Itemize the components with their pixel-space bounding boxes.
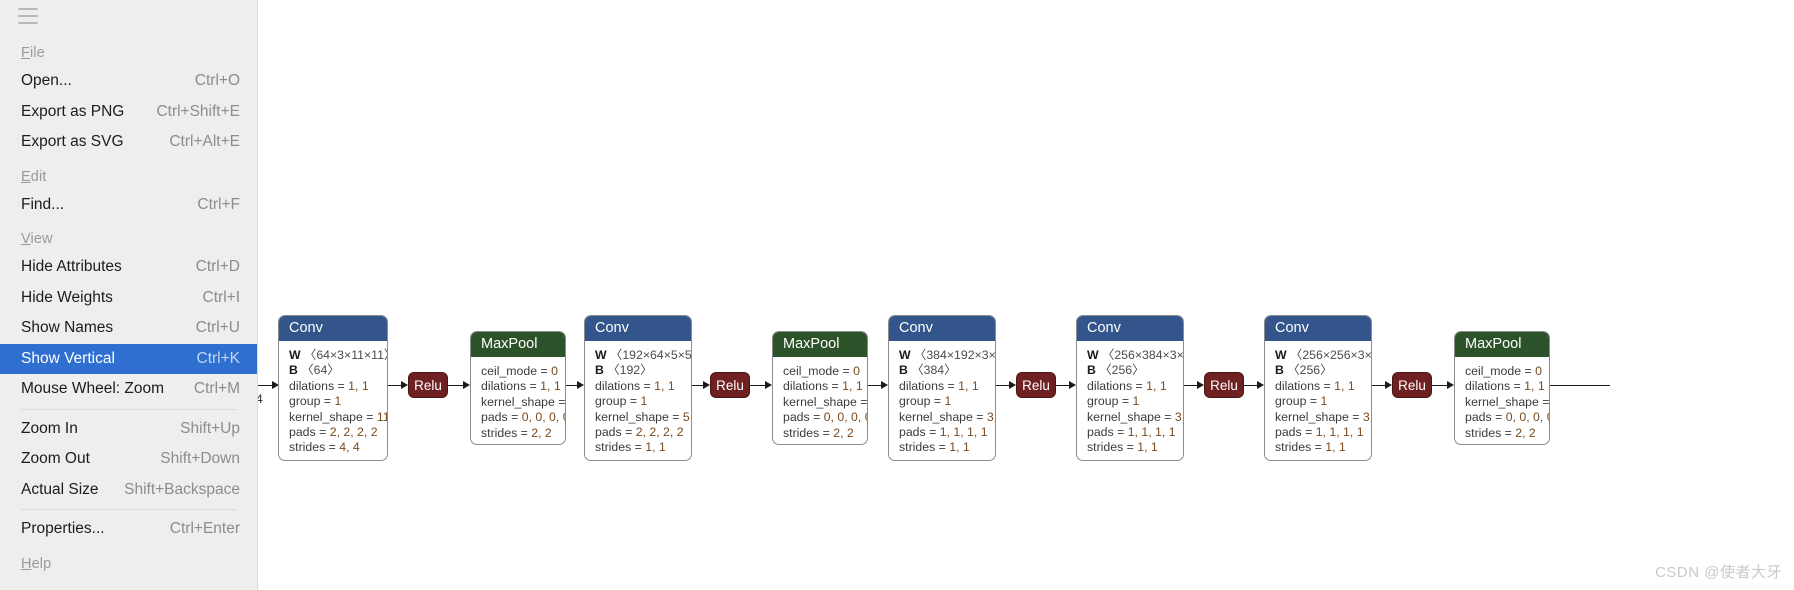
- attribute-key: W: [289, 348, 301, 362]
- edge-arrow: [1197, 381, 1204, 389]
- edge-output: [1550, 385, 1610, 386]
- attribute-key: dilations: [783, 379, 828, 393]
- menu-item-shortcut: Ctrl+I: [203, 289, 240, 307]
- attribute-shape: 〈192〉: [607, 363, 652, 377]
- menu-item-shortcut: Ctrl+Alt+E: [169, 133, 240, 151]
- attribute-key: B: [1087, 363, 1096, 377]
- attribute-value: 1, 1: [958, 379, 979, 393]
- attribute-shape: 〈384×192×3×3〉: [914, 348, 996, 362]
- menu-group-label-edit: Edit: [0, 158, 258, 190]
- attribute-key: group: [1275, 394, 1306, 408]
- graph-canvas[interactable]: 4×224ConvW 〈64×3×11×11〉B 〈64〉dilations =…: [258, 0, 1794, 590]
- node-attribute-row: kernel_shape = 3, 3: [783, 395, 857, 410]
- node-attribute-row: dilations = 1, 1: [1087, 379, 1173, 394]
- node-attribute-row: strides = 2, 2: [783, 426, 857, 441]
- menu-item-shortcut: Ctrl+D: [196, 258, 240, 276]
- node-attribute-row: pads = 0, 0, 0, 0: [481, 410, 555, 425]
- graph-node-conv[interactable]: ConvW 〈256×256×3×3〉B 〈256〉dilations = 1,…: [1264, 315, 1372, 461]
- attribute-value: 1, 1: [654, 379, 675, 393]
- attribute-value: 1, 1: [1146, 379, 1167, 393]
- node-attribute-row: dilations = 1, 1: [289, 379, 377, 394]
- attribute-key: kernel_shape: [1465, 395, 1539, 409]
- attribute-key: kernel_shape: [899, 410, 973, 424]
- attribute-value: 1, 1: [842, 379, 863, 393]
- attribute-key: ceil_mode: [783, 364, 839, 378]
- node-attribute-row: ceil_mode = 0: [481, 364, 555, 379]
- menu-item-label: Actual Size: [21, 481, 99, 499]
- hamburger-bar: [18, 8, 38, 10]
- attribute-value: 3, 3: [1363, 410, 1372, 424]
- graph-node-relu[interactable]: Relu: [1392, 372, 1432, 398]
- node-attribute-row: dilations = 1, 1: [899, 379, 985, 394]
- graph-node-relu[interactable]: Relu: [710, 372, 750, 398]
- node-attributes: W 〈384×192×3×3〉B 〈384〉dilations = 1, 1gr…: [889, 341, 995, 461]
- node-attribute-row: pads = 1, 1, 1, 1: [1275, 425, 1361, 440]
- edge-arrow: [577, 381, 584, 389]
- attribute-shape: 〈256×256×3×3〉: [1290, 348, 1372, 362]
- menu-item-hide-weights[interactable]: Hide WeightsCtrl+I: [0, 283, 258, 314]
- edge-connector: [1056, 385, 1070, 386]
- attribute-key: strides: [1465, 426, 1501, 440]
- model-graph: 4×224ConvW 〈64×3×11×11〉B 〈64〉dilations =…: [258, 0, 1794, 590]
- attribute-value: 0: [1535, 364, 1542, 378]
- graph-node-maxpool[interactable]: MaxPoolceil_mode = 0dilations = 1, 1kern…: [470, 331, 566, 445]
- attribute-value: 1, 1, 1, 1: [1316, 425, 1364, 439]
- attribute-shape: 〈64〉: [301, 363, 339, 377]
- attribute-key: strides: [481, 426, 517, 440]
- attribute-key: dilations: [1465, 379, 1510, 393]
- attribute-value: 1, 1: [949, 440, 970, 454]
- menu-item-actual-size[interactable]: Actual SizeShift+Backspace: [0, 475, 258, 506]
- node-attribute-row: kernel_shape = 11, 11: [289, 410, 377, 425]
- attribute-key: strides: [783, 426, 819, 440]
- node-title: MaxPool: [773, 332, 867, 357]
- edge-connector: [996, 385, 1010, 386]
- hamburger-bar: [18, 15, 38, 17]
- edge-connector: [868, 385, 882, 386]
- node-attribute-row: dilations = 1, 1: [481, 379, 555, 394]
- node-attribute-row: kernel_shape = 3, 3: [1275, 410, 1361, 425]
- menu-item-label: Export as PNG: [21, 103, 124, 121]
- attribute-key: pads: [899, 425, 926, 439]
- attribute-key: kernel_shape: [595, 410, 669, 424]
- edge-arrow: [1069, 381, 1076, 389]
- attribute-shape: 〈256×384×3×3〉: [1102, 348, 1184, 362]
- menu-item-label: Find...: [21, 196, 64, 214]
- node-attribute-row: pads = 2, 2, 2, 2: [289, 425, 377, 440]
- node-attribute-row: group = 1: [289, 394, 377, 409]
- attribute-key: dilations: [1087, 379, 1132, 393]
- node-attribute-row: strides = 1, 1: [1087, 440, 1173, 455]
- menu-item-zoom-out[interactable]: Zoom OutShift+Down: [0, 444, 258, 475]
- node-attribute-row: W 〈256×256×3×3〉: [1275, 348, 1361, 363]
- menu-item-label: Mouse Wheel: Zoom: [21, 380, 164, 398]
- attribute-key: strides: [289, 440, 325, 454]
- node-attributes: ceil_mode = 0dilations = 1, 1kernel_shap…: [471, 357, 565, 445]
- node-attribute-row: B 〈384〉: [899, 363, 985, 378]
- edge-arrow: [1385, 381, 1392, 389]
- attribute-key: dilations: [289, 379, 334, 393]
- menu-item-shortcut: Ctrl+O: [195, 72, 240, 90]
- node-attributes: W 〈64×3×11×11〉B 〈64〉dilations = 1, 1grou…: [279, 341, 387, 461]
- node-title: Relu: [1210, 378, 1238, 393]
- attribute-value: 0, 0, 0, 0: [522, 410, 566, 424]
- attribute-value: 11, 11: [377, 410, 388, 424]
- watermark: CSDN @使者大牙: [1655, 561, 1782, 582]
- attribute-key: kernel_shape: [289, 410, 363, 424]
- menu-item-shortcut: Shift+Down: [160, 450, 240, 468]
- menu-item-shortcut: Ctrl+Enter: [170, 520, 240, 538]
- node-attribute-row: pads = 1, 1, 1, 1: [899, 425, 985, 440]
- attribute-key: group: [595, 394, 626, 408]
- attribute-shape: 〈256〉: [1287, 363, 1332, 377]
- menu-list: FileOpen...Ctrl+OExport as PNGCtrl+Shift…: [0, 34, 258, 577]
- edge-arrow: [463, 381, 470, 389]
- attribute-value: 2, 2: [833, 426, 854, 440]
- node-title: Conv: [1265, 316, 1371, 341]
- attribute-value: 0, 0, 0, 0: [824, 410, 868, 424]
- attribute-key: kernel_shape: [481, 395, 555, 409]
- menu-item-shortcut: Ctrl+K: [197, 350, 241, 368]
- attribute-key: pads: [783, 410, 810, 424]
- edge-label-input-shape: 4×224: [258, 392, 263, 406]
- menu-item-hide-attributes[interactable]: Hide AttributesCtrl+D: [0, 252, 258, 283]
- node-attribute-row: strides = 4, 4: [289, 440, 377, 455]
- node-attribute-row: dilations = 1, 1: [783, 379, 857, 394]
- node-attributes: W 〈192×64×5×5〉B 〈192〉dilations = 1, 1gro…: [585, 341, 691, 461]
- node-attribute-row: B 〈256〉: [1087, 363, 1173, 378]
- menu-separator: [21, 509, 237, 510]
- menu-item-label: Properties...: [21, 520, 105, 538]
- attribute-shape: 〈192×64×5×5〉: [610, 348, 692, 362]
- node-attribute-row: kernel_shape = 5, 5: [595, 410, 681, 425]
- attribute-value: 3, 3: [1175, 410, 1184, 424]
- menu-group-label-help: Help: [0, 545, 258, 577]
- attribute-key: pads: [1275, 425, 1302, 439]
- menu-item-show-vertical[interactable]: Show VerticalCtrl+K: [0, 344, 258, 375]
- node-attribute-row: ceil_mode = 0: [783, 364, 857, 379]
- node-attribute-row: strides = 2, 2: [481, 426, 555, 441]
- attribute-value: 0: [853, 364, 860, 378]
- node-title: Conv: [889, 316, 995, 341]
- menu-separator: [21, 409, 237, 410]
- edge-arrow: [765, 381, 772, 389]
- menu-item-label: Show Vertical: [21, 350, 115, 368]
- attribute-value: 0, 0, 0, 0: [1506, 410, 1550, 424]
- main-menu-panel: FileOpen...Ctrl+OExport as PNGCtrl+Shift…: [0, 0, 258, 590]
- edge-connector: [750, 385, 766, 386]
- node-attribute-row: kernel_shape = 3, 3: [899, 410, 985, 425]
- node-title: Relu: [414, 378, 442, 393]
- graph-node-relu[interactable]: Relu: [1204, 372, 1244, 398]
- node-attribute-row: strides = 1, 1: [899, 440, 985, 455]
- edge-arrow: [703, 381, 710, 389]
- edge-connector: [1372, 385, 1386, 386]
- attribute-value: 1, 1: [645, 440, 666, 454]
- edge-arrow: [1009, 381, 1016, 389]
- node-attribute-row: W 〈256×384×3×3〉: [1087, 348, 1173, 363]
- attribute-key: ceil_mode: [481, 364, 537, 378]
- edge-arrow: [1447, 381, 1454, 389]
- attribute-key: W: [899, 348, 911, 362]
- graph-node-conv[interactable]: ConvW 〈192×64×5×5〉B 〈192〉dilations = 1, …: [584, 315, 692, 461]
- node-attribute-row: pads = 2, 2, 2, 2: [595, 425, 681, 440]
- edge-connector: [448, 385, 464, 386]
- attribute-value: 3, 3: [987, 410, 996, 424]
- menu-item-shortcut: Shift+Up: [180, 420, 240, 438]
- node-attribute-row: W 〈64×3×11×11〉: [289, 348, 377, 363]
- menu-item-label: Open...: [21, 72, 72, 90]
- node-attributes: ceil_mode = 0dilations = 1, 1kernel_shap…: [1455, 357, 1549, 445]
- graph-node-conv[interactable]: ConvW 〈256×384×3×3〉B 〈256〉dilations = 1,…: [1076, 315, 1184, 461]
- edge-input: [258, 385, 273, 386]
- attribute-key: group: [1087, 394, 1118, 408]
- menu-item-label: Hide Weights: [21, 289, 113, 307]
- node-title: Relu: [1398, 378, 1426, 393]
- node-attribute-row: B 〈64〉: [289, 363, 377, 378]
- node-attribute-row: dilations = 1, 1: [1465, 379, 1539, 394]
- attribute-value: 5, 5: [683, 410, 692, 424]
- node-attributes: ceil_mode = 0dilations = 1, 1kernel_shap…: [773, 357, 867, 445]
- attribute-key: group: [289, 394, 320, 408]
- attribute-key: ceil_mode: [1465, 364, 1521, 378]
- attribute-key: strides: [899, 440, 935, 454]
- node-attribute-row: W 〈384×192×3×3〉: [899, 348, 985, 363]
- attribute-key: W: [1087, 348, 1099, 362]
- menu-item-label: Show Names: [21, 319, 113, 337]
- attribute-key: B: [595, 363, 604, 377]
- menu-group-label-file: File: [0, 34, 258, 66]
- attribute-value: 2, 2: [531, 426, 552, 440]
- attribute-key: group: [899, 394, 930, 408]
- menu-item-export-as-svg[interactable]: Export as SVGCtrl+Alt+E: [0, 127, 258, 158]
- node-title: Relu: [1022, 378, 1050, 393]
- hamburger-icon[interactable]: [18, 8, 38, 24]
- attribute-key: B: [289, 363, 298, 377]
- app-root: FileOpen...Ctrl+OExport as PNGCtrl+Shift…: [0, 0, 1794, 590]
- attribute-value: 1: [640, 394, 647, 408]
- node-attribute-row: B 〈192〉: [595, 363, 681, 378]
- node-attribute-row: dilations = 1, 1: [1275, 379, 1361, 394]
- node-title: MaxPool: [471, 332, 565, 357]
- menu-item-open[interactable]: Open...Ctrl+O: [0, 66, 258, 97]
- menu-item-label: Zoom In: [21, 420, 78, 438]
- node-title: MaxPool: [1455, 332, 1549, 357]
- attribute-key: strides: [1087, 440, 1123, 454]
- graph-node-conv[interactable]: ConvW 〈384×192×3×3〉B 〈384〉dilations = 1,…: [888, 315, 996, 461]
- attribute-value: 1: [1132, 394, 1139, 408]
- graph-node-maxpool[interactable]: MaxPoolceil_mode = 0dilations = 1, 1kern…: [772, 331, 868, 445]
- attribute-shape: 〈64×3×11×11〉: [304, 348, 388, 362]
- node-title: Conv: [1077, 316, 1183, 341]
- attribute-value: 2, 2, 2, 2: [636, 425, 684, 439]
- attribute-key: dilations: [1275, 379, 1320, 393]
- node-attribute-row: strides = 1, 1: [595, 440, 681, 455]
- node-attribute-row: pads = 1, 1, 1, 1: [1087, 425, 1173, 440]
- node-attribute-row: kernel_shape = 3, 3: [481, 395, 555, 410]
- menu-item-shortcut: Shift+Backspace: [124, 481, 240, 499]
- graph-node-conv[interactable]: ConvW 〈64×3×11×11〉B 〈64〉dilations = 1, 1…: [278, 315, 388, 461]
- attribute-value: 1, 1: [1325, 440, 1346, 454]
- edge-connector: [1184, 385, 1198, 386]
- hamburger-bar: [18, 22, 38, 24]
- edge-connector: [1244, 385, 1258, 386]
- edge-arrow: [1257, 381, 1264, 389]
- attribute-key: dilations: [595, 379, 640, 393]
- graph-node-maxpool[interactable]: MaxPoolceil_mode = 0dilations = 1, 1kern…: [1454, 331, 1550, 445]
- menu-item-shortcut: Ctrl+M: [194, 380, 240, 398]
- attribute-value: 1: [944, 394, 951, 408]
- menu-item-label: Export as SVG: [21, 133, 124, 151]
- edge-arrow: [881, 381, 888, 389]
- menu-item-mouse-wheel-zoom[interactable]: Mouse Wheel: ZoomCtrl+M: [0, 374, 258, 405]
- menu-item-label: Zoom Out: [21, 450, 90, 468]
- menu-item-properties[interactable]: Properties...Ctrl+Enter: [0, 514, 258, 545]
- attribute-value: 1, 1: [1137, 440, 1158, 454]
- attribute-key: W: [595, 348, 607, 362]
- node-attribute-row: pads = 0, 0, 0, 0: [783, 410, 857, 425]
- node-attribute-row: group = 1: [1087, 394, 1173, 409]
- node-attribute-row: pads = 0, 0, 0, 0: [1465, 410, 1539, 425]
- attribute-key: pads: [1465, 410, 1492, 424]
- node-attribute-row: strides = 1, 1: [1275, 440, 1361, 455]
- edge-arrow: [401, 381, 408, 389]
- attribute-key: pads: [289, 425, 316, 439]
- menu-group-label-view: View: [0, 220, 258, 252]
- attribute-value: 2, 2, 2, 2: [330, 425, 378, 439]
- attribute-shape: 〈256〉: [1099, 363, 1144, 377]
- node-attribute-row: group = 1: [899, 394, 985, 409]
- menu-item-label: Hide Attributes: [21, 258, 122, 276]
- menu-item-export-as-png[interactable]: Export as PNGCtrl+Shift+E: [0, 97, 258, 128]
- menu-item-shortcut: Ctrl+Shift+E: [156, 103, 240, 121]
- node-attribute-row: B 〈256〉: [1275, 363, 1361, 378]
- attribute-value: 1, 1: [348, 379, 369, 393]
- attribute-shape: 〈384〉: [911, 363, 956, 377]
- attribute-value: 1, 1: [540, 379, 561, 393]
- attribute-key: pads: [595, 425, 622, 439]
- node-attribute-row: group = 1: [1275, 394, 1361, 409]
- node-attribute-row: strides = 2, 2: [1465, 426, 1539, 441]
- attribute-value: 1: [1320, 394, 1327, 408]
- attribute-value: 1, 1: [1524, 379, 1545, 393]
- attribute-value: 1, 1, 1, 1: [1128, 425, 1176, 439]
- node-attribute-row: kernel_shape = 3, 3: [1465, 395, 1539, 410]
- node-attribute-row: dilations = 1, 1: [595, 379, 681, 394]
- attribute-key: dilations: [481, 379, 526, 393]
- edge-connector: [388, 385, 402, 386]
- attribute-key: kernel_shape: [1275, 410, 1349, 424]
- attribute-key: dilations: [899, 379, 944, 393]
- graph-node-relu[interactable]: Relu: [1016, 372, 1056, 398]
- menu-item-show-names[interactable]: Show NamesCtrl+U: [0, 313, 258, 344]
- node-title: Relu: [716, 378, 744, 393]
- graph-node-relu[interactable]: Relu: [408, 372, 448, 398]
- attribute-key: kernel_shape: [783, 395, 857, 409]
- attribute-value: 1, 1: [1334, 379, 1355, 393]
- attribute-key: kernel_shape: [1087, 410, 1161, 424]
- node-title: Conv: [585, 316, 691, 341]
- attribute-value: 0: [551, 364, 558, 378]
- edge-connector: [1432, 385, 1448, 386]
- node-title: Conv: [279, 316, 387, 341]
- menu-item-zoom-in[interactable]: Zoom InShift+Up: [0, 414, 258, 445]
- node-attribute-row: ceil_mode = 0: [1465, 364, 1539, 379]
- attribute-key: W: [1275, 348, 1287, 362]
- menu-item-shortcut: Ctrl+F: [197, 196, 240, 214]
- menu-item-find[interactable]: Find...Ctrl+F: [0, 190, 258, 221]
- attribute-key: strides: [595, 440, 631, 454]
- attribute-key: B: [1275, 363, 1284, 377]
- node-attribute-row: kernel_shape = 3, 3: [1087, 410, 1173, 425]
- node-attribute-row: group = 1: [595, 394, 681, 409]
- attribute-value: 4, 4: [339, 440, 360, 454]
- menu-item-shortcut: Ctrl+U: [196, 319, 240, 337]
- node-attributes: W 〈256×384×3×3〉B 〈256〉dilations = 1, 1gr…: [1077, 341, 1183, 461]
- attribute-key: pads: [1087, 425, 1114, 439]
- node-attributes: W 〈256×256×3×3〉B 〈256〉dilations = 1, 1gr…: [1265, 341, 1371, 461]
- node-attribute-row: W 〈192×64×5×5〉: [595, 348, 681, 363]
- attribute-key: B: [899, 363, 908, 377]
- attribute-key: pads: [481, 410, 508, 424]
- attribute-key: strides: [1275, 440, 1311, 454]
- attribute-value: 1, 1, 1, 1: [940, 425, 988, 439]
- attribute-value: 1: [334, 394, 341, 408]
- attribute-value: 2, 2: [1515, 426, 1536, 440]
